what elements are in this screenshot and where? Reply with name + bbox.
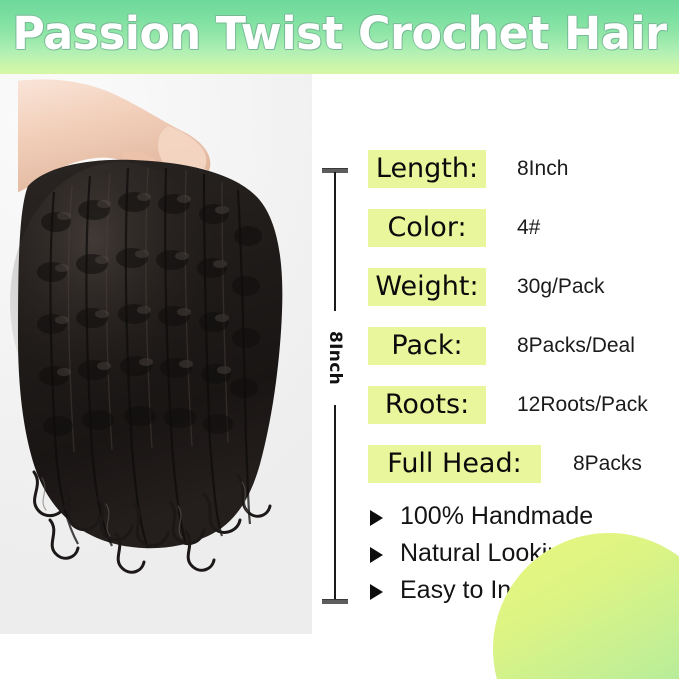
spec-row-pack: Pack: 8Packs/Deal <box>368 327 668 365</box>
spec-label-length: Length: <box>368 150 486 188</box>
spec-row-full-head: Full Head: 8Packs <box>368 445 668 483</box>
spec-row-length: Length: 8Inch <box>368 150 668 188</box>
product-photo <box>0 74 312 634</box>
spec-list: Length: 8Inch Color: 4# Weight: 30g/Pack… <box>368 150 668 504</box>
spec-label-pack: Pack: <box>368 327 486 365</box>
triangle-right-icon <box>370 547 383 563</box>
spec-label-color: Color: <box>368 209 486 247</box>
spec-value-full-head: 8Packs <box>573 445 642 483</box>
spec-label-full-head: Full Head: <box>368 445 541 483</box>
length-dimension-indicator: 8Inch <box>318 168 352 604</box>
spec-value-color: 4# <box>517 209 540 247</box>
spec-row-weight: Weight: 30g/Pack <box>368 268 668 306</box>
feature-item: 100% Handmade <box>368 498 668 535</box>
dimension-cap-bottom <box>322 599 348 604</box>
spec-value-length: 8Inch <box>517 150 568 188</box>
spec-row-roots: Roots: 12Roots/Pack <box>368 386 668 424</box>
spec-value-pack: 8Packs/Deal <box>517 327 635 365</box>
spec-label-weight: Weight: <box>368 268 486 306</box>
spec-value-weight: 30g/Pack <box>517 268 605 306</box>
product-infographic: Passion Twist Crochet Hair <box>0 0 679 679</box>
spec-label-roots: Roots: <box>368 386 486 424</box>
hair-bundle <box>0 152 312 592</box>
spec-row-color: Color: 4# <box>368 209 668 247</box>
page-title: Passion Twist Crochet Hair <box>5 0 674 68</box>
triangle-right-icon <box>370 584 383 600</box>
dimension-label: 8Inch <box>320 311 350 405</box>
feature-label: 100% Handmade <box>400 502 593 530</box>
spec-value-roots: 12Roots/Pack <box>517 386 648 424</box>
triangle-right-icon <box>370 510 383 526</box>
header-banner: Passion Twist Crochet Hair <box>0 0 679 74</box>
